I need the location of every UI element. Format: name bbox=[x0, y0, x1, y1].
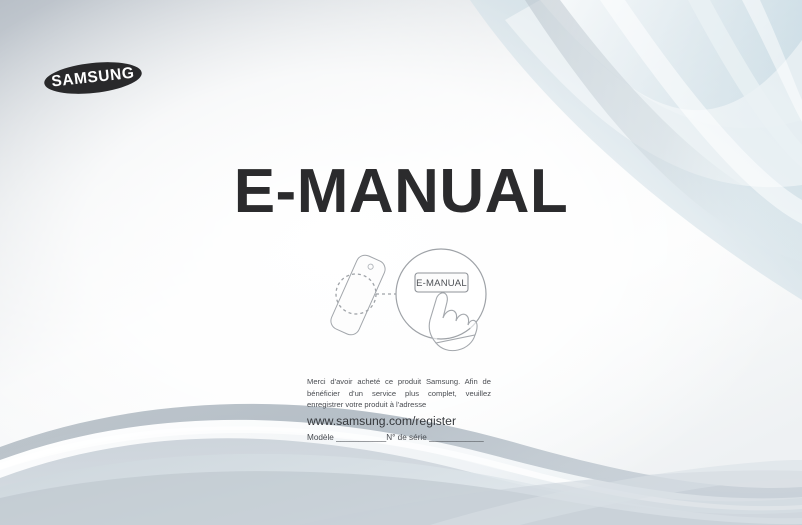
register-url: www.samsung.com/register bbox=[307, 413, 491, 430]
registration-info-block: Merci d'avoir acheté ce produit Samsung.… bbox=[307, 376, 491, 445]
emanual-cover-page: SAMSUNG E-MANUAL bbox=[0, 0, 802, 525]
tv-remote-control bbox=[328, 252, 388, 337]
emanual-key-label: E-MANUAL bbox=[416, 278, 467, 289]
model-serial-line: Modèle ___________N° de série __________… bbox=[307, 431, 491, 445]
thank-you-paragraph: Merci d'avoir acheté ce produit Samsung.… bbox=[307, 376, 491, 411]
page-title: E-MANUAL bbox=[0, 161, 802, 223]
remote-magnifier-illustration: E-MANUAL bbox=[318, 238, 493, 353]
